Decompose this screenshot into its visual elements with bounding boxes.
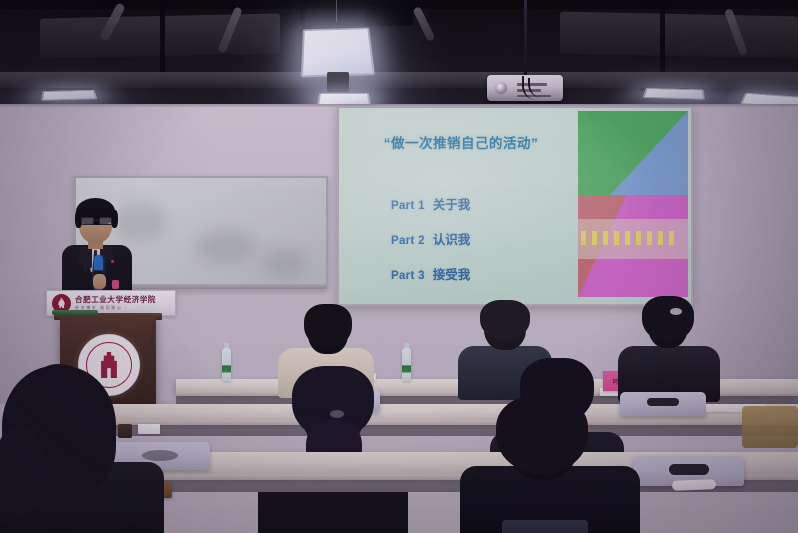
slide-art-dash (614, 231, 619, 245)
whiteboard-smudge (196, 230, 256, 264)
slide-art-dash (581, 231, 586, 245)
slide-agenda-item: Part 1 关于我 (391, 194, 470, 213)
speaker-glasses-lens (99, 217, 112, 225)
slide-part-label: Part 1 (391, 200, 425, 212)
lectern-microphone (52, 310, 98, 315)
student-ponytail (642, 296, 694, 342)
slide-art-dash-row (581, 231, 687, 245)
slide-art-dash (625, 231, 630, 245)
student-back-left (0, 364, 164, 533)
slide-part-text: 认识我 (433, 229, 471, 248)
led-panel-main (301, 28, 375, 78)
lectern-banner-text: 合肥工业大学经济学院 经济博学 致用致心 (75, 296, 156, 310)
slide-title: “做一次推销自己的活动” (361, 132, 561, 152)
slide-art-dash (636, 231, 641, 245)
slide-agenda-item: Part 2 认识我 (391, 229, 470, 248)
student-wavy-hair-strand (0, 424, 46, 514)
projector-mount-rod (524, 0, 527, 78)
speaker-lapel-pin-icon (111, 260, 114, 263)
lectern-banner-title: 合肥工业大学经济学院 (75, 296, 156, 304)
water-bottle (222, 348, 231, 381)
classroom-photo: “做一次推销自己的活动” Part 1 关于我 Part 2 认识我 Part … (0, 0, 798, 533)
slide-part-label: Part 3 (391, 270, 425, 282)
bag-strap (502, 520, 588, 533)
student-back-right (618, 296, 720, 398)
slide-agenda-list: Part 1 关于我 Part 2 认识我 Part 3 接受我 (391, 194, 470, 299)
speaker-hair-side (111, 210, 118, 228)
speaker-glasses-bridge (93, 220, 99, 221)
slide-part-label: Part 2 (391, 235, 425, 247)
ceiling-duct-right (560, 12, 798, 59)
speaker-hand (93, 274, 106, 289)
ceiling-box-center (365, 2, 413, 26)
slide-art-dash (647, 231, 652, 245)
slide-decorative-artwork (578, 111, 688, 297)
slide-art-dash (592, 231, 597, 245)
ceiling-hanger-3 (660, 0, 665, 78)
student-hair (496, 396, 588, 474)
backpack-on-chair (742, 406, 798, 448)
ceiling-rail (0, 72, 798, 88)
led-panel-far-left (41, 90, 97, 101)
speaker-glasses-lens (81, 217, 94, 225)
desk-edge-middle (92, 420, 798, 425)
slide-part-text: 关于我 (433, 194, 471, 213)
speaker-badge (112, 280, 119, 289)
slide-art-dash (603, 231, 608, 245)
projector-lens-icon (495, 82, 507, 94)
slide-art-dash (658, 231, 663, 245)
chair-handle-slot (669, 464, 709, 475)
speaker-glasses-icon (81, 217, 110, 223)
ceiling-hanger-1 (160, 0, 165, 78)
hair-tie-icon (330, 410, 344, 418)
ceiling-pipe-elbow (413, 6, 436, 42)
projection-screen: “做一次推销自己的活动” Part 1 关于我 Part 2 认识我 Part … (337, 106, 693, 306)
led-stem-main (327, 72, 349, 92)
hair-tie-icon (670, 308, 682, 315)
paper-on-front-desk (672, 479, 716, 491)
chair-handle-slot (647, 398, 679, 406)
slide-surface: “做一次推销自己的活动” Part 1 关于我 Part 2 认识我 Part … (339, 108, 691, 304)
led-wire-1 (336, 0, 337, 22)
slide-part-text: 接受我 (433, 264, 471, 283)
whiteboard-smudge (262, 248, 306, 278)
slide-agenda-item: Part 3 接受我 (391, 264, 470, 283)
slide-art-dash (669, 231, 674, 245)
student-hair (304, 304, 352, 348)
student-front-right (258, 366, 408, 533)
student-front-center (460, 396, 640, 533)
led-panel-far-right (642, 88, 704, 100)
student-hair (480, 300, 530, 340)
